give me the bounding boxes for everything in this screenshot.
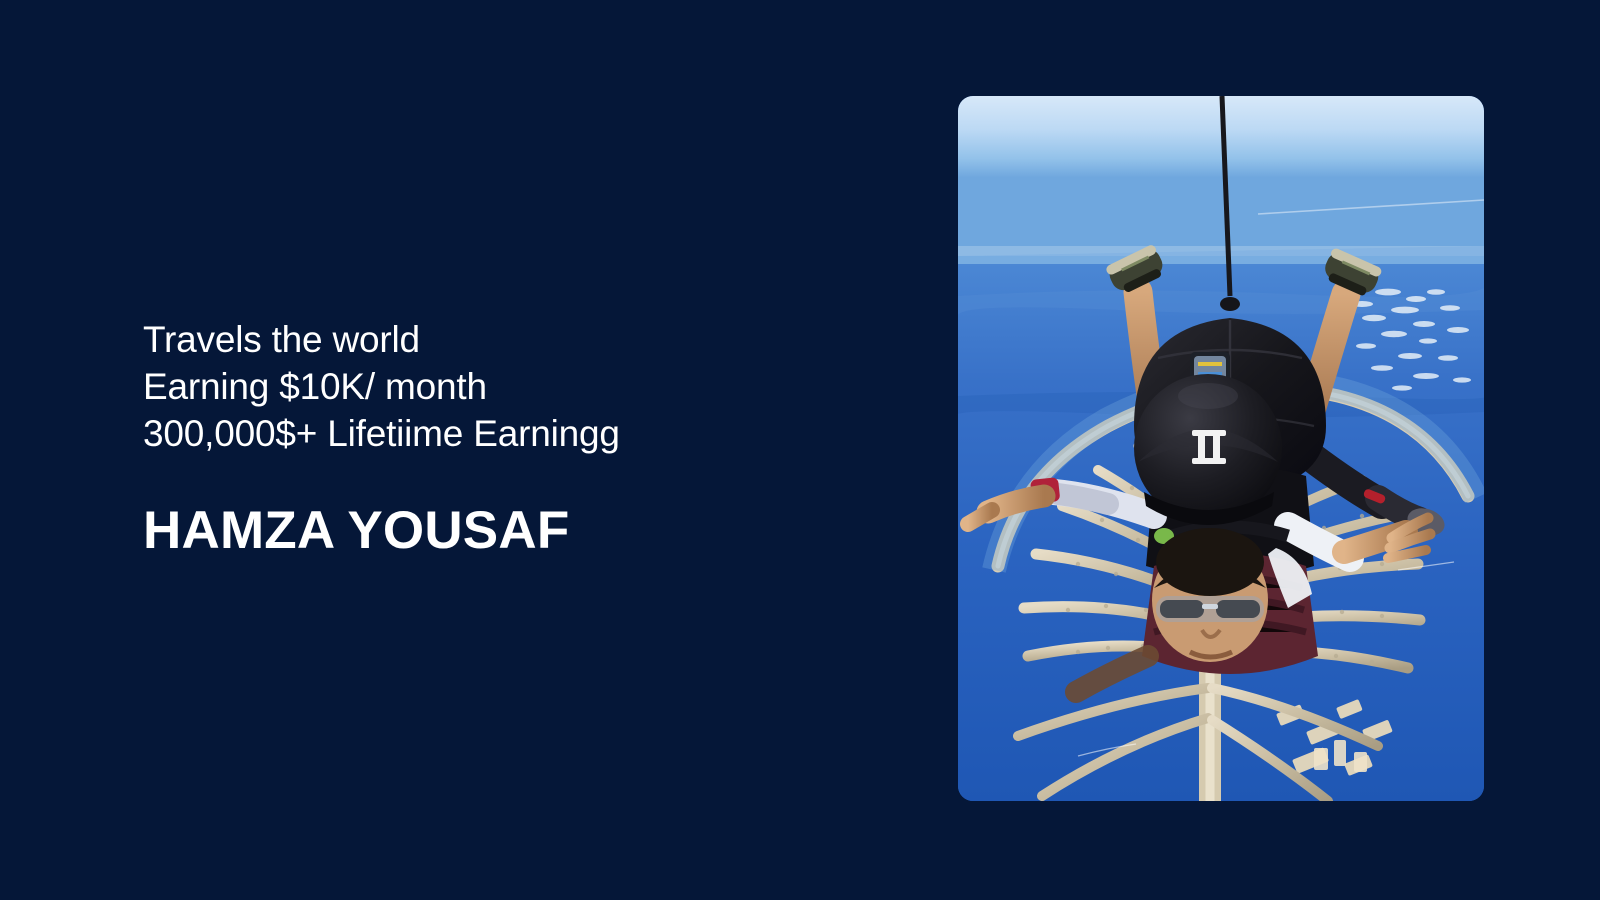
tagline-line-3: 300,000$+ Lifetiime Earningg: [143, 410, 903, 457]
tagline-line-1: Travels the world: [143, 316, 903, 363]
slide-root: Travels the world Earning $10K/ month 30…: [0, 0, 1600, 900]
skydiving-photo: [958, 96, 1484, 801]
goggles: [1156, 596, 1264, 622]
instructor-helmet: [1134, 374, 1282, 525]
copy-block: Travels the world Earning $10K/ month 30…: [143, 316, 903, 561]
skydiving-photo-card: [958, 96, 1484, 801]
tagline-line-2: Earning $10K/ month: [143, 363, 903, 410]
passenger-head: [1152, 528, 1268, 662]
person-name: HAMZA YOUSAF: [143, 501, 903, 561]
